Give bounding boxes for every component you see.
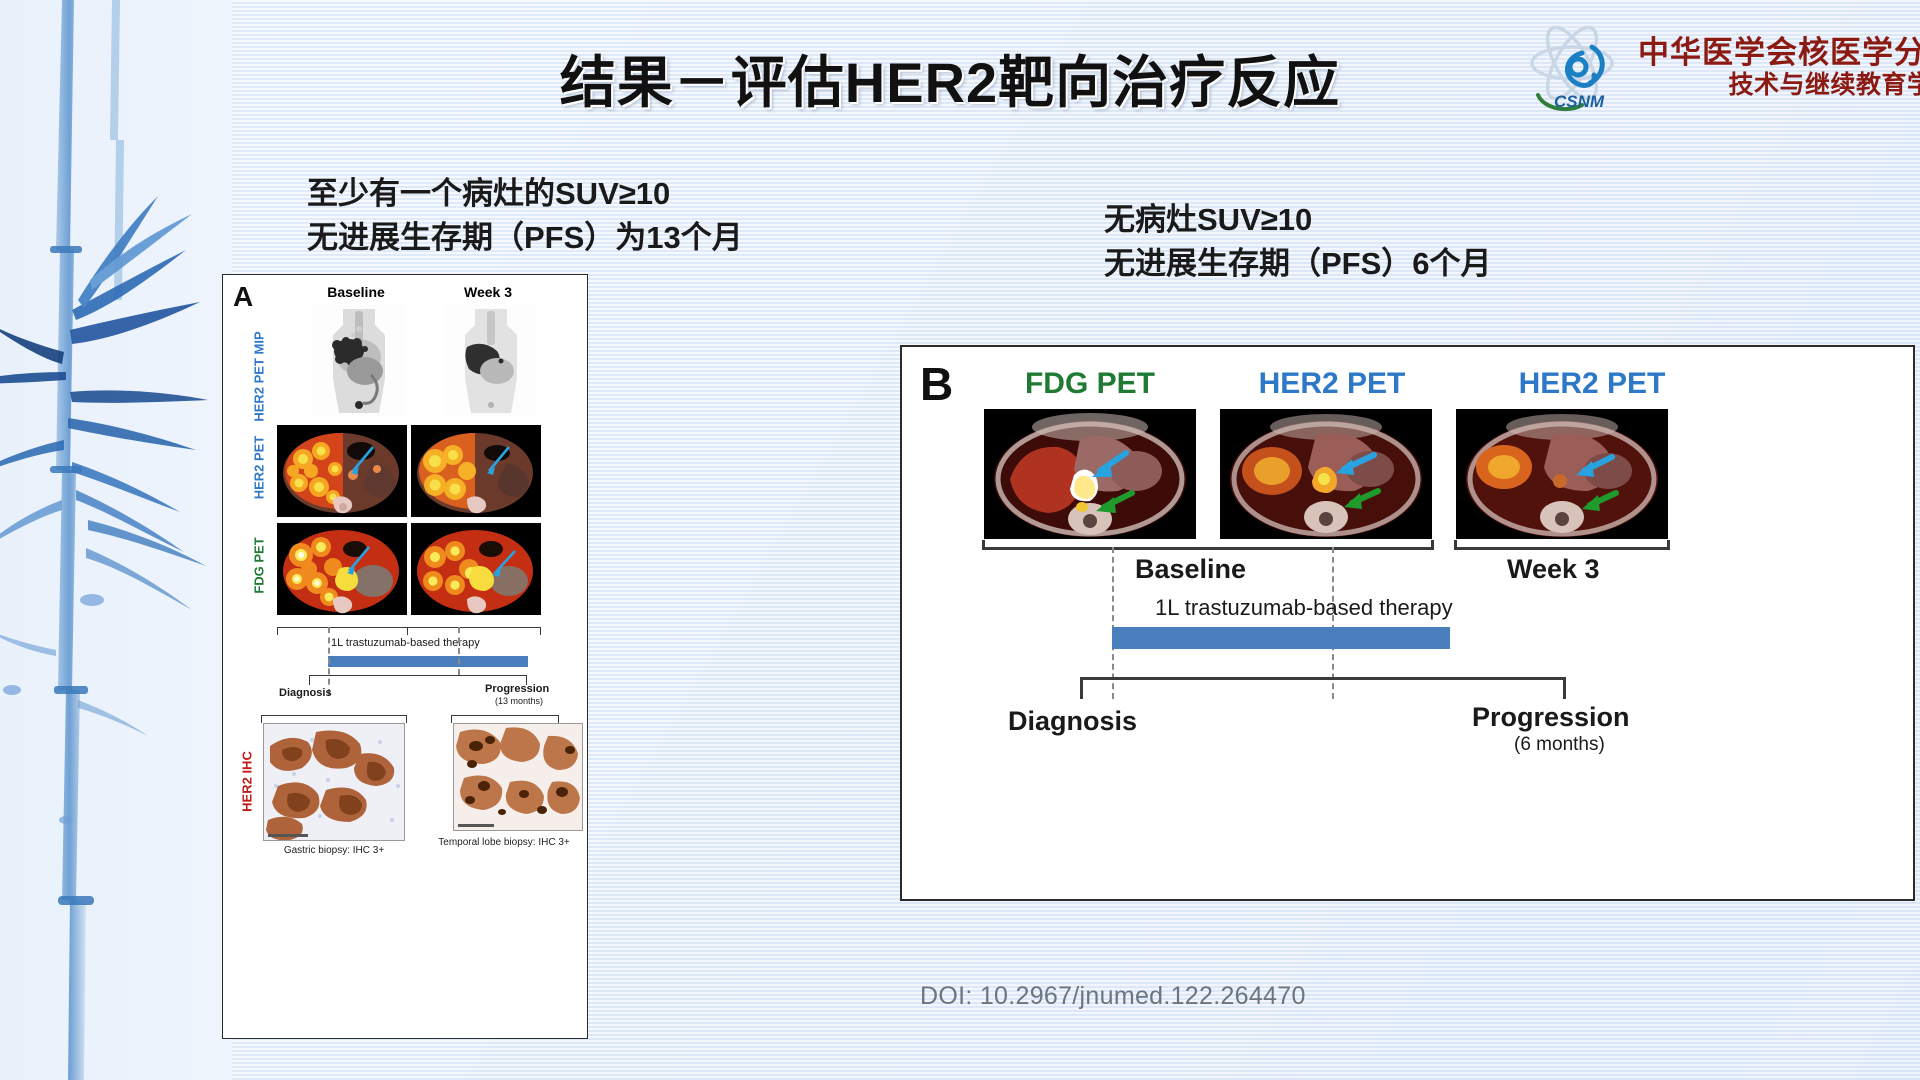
panel-a-progression-sub: (13 months) xyxy=(495,697,543,707)
panel-a-bracket-right-tick xyxy=(540,627,541,635)
panel-a-fdgpet-baseline xyxy=(277,523,407,615)
bamboo-decoration xyxy=(0,0,232,1080)
panel-a-therapy-bar xyxy=(328,656,528,667)
panel-a-ihc-bracket-right xyxy=(451,715,559,716)
panel-b-diagnosis-tick xyxy=(1080,677,1083,699)
panel-a-diagnosis-tick xyxy=(309,675,310,685)
panel-b-letter: B xyxy=(920,361,953,407)
logo-line-secondary: 技术与继续教育学组 xyxy=(1728,71,1920,100)
caption-right: 无病灶SUV≥10 无进展生存期（PFS）6个月 xyxy=(1104,198,1492,286)
panel-b-progression-label: Progression xyxy=(1472,703,1630,733)
page-title: 结果－评估HER2靶向治疗反应 xyxy=(430,38,1470,119)
panel-b-diagnosis-label: Diagnosis xyxy=(1008,707,1137,737)
panel-a-row-label-her2-pet: HER2 PET xyxy=(253,430,266,506)
panel-b-scan-her2-baseline xyxy=(1220,409,1432,539)
panel-a-ihc-bracket-left-tick1 xyxy=(261,715,262,723)
csnm-atom-icon: CSNM xyxy=(1520,23,1628,113)
panel-b-header-fdg-pet: FDG PET xyxy=(980,369,1200,399)
panel-a-diagnosis-dashline xyxy=(328,627,330,695)
panel-b-scan-fdg-baseline xyxy=(984,409,1196,539)
panel-a-ihc-bracket-right-tick2 xyxy=(558,715,559,723)
panel-a-biopsy-caption-left: Gastric biopsy: IHC 3+ xyxy=(245,845,423,856)
panel-b-therapy-label: 1L trastuzumab-based therapy xyxy=(1155,596,1453,620)
panel-b-timepoint-baseline: Baseline xyxy=(1135,555,1246,585)
panel-b-baseline-bracket-left-tick xyxy=(982,540,985,550)
organization-logo: CSNM 中华医学会核医学分会 技术与继续教育学组 xyxy=(1520,22,1910,114)
panel-b-week3-bracket-right-tick xyxy=(1667,540,1670,550)
panel-b-therapy-bar xyxy=(1112,627,1450,649)
panel-a-row-label-her2-ihc: HER2 IHC xyxy=(241,742,254,822)
panel-a-column-week3: Week 3 xyxy=(433,285,543,299)
panel-b-week3-bracket-left-tick xyxy=(1454,540,1457,550)
panel-a-her2pet-week3 xyxy=(411,425,541,517)
caption-right-line1: 无病灶SUV≥10 xyxy=(1104,198,1492,242)
caption-right-line2: 无进展生存期（PFS）6个月 xyxy=(1104,242,1492,286)
figure-panel-a: A Baseline Week 3 HER2 PET MIP xyxy=(222,274,588,1039)
caption-left: 至少有一个病灶的SUV≥10 无进展生存期（PFS）为13个月 xyxy=(307,172,743,260)
slide-canvas: 结果－评估HER2靶向治疗反应 CSNM 中华医学会核医学分会 技术与 xyxy=(0,0,1920,1080)
panel-a-ihc-bracket-left xyxy=(261,715,407,716)
panel-a-row-label-fdg-pet: FDG PET xyxy=(253,533,266,599)
panel-b-scan-her2-week3 xyxy=(1456,409,1668,539)
panel-a-bracket-left-tick xyxy=(277,627,278,635)
panel-a-scan-bracket xyxy=(277,627,541,628)
panel-a-mip-week3 xyxy=(445,305,537,417)
panel-b-header-her2-pet-week3: HER2 PET xyxy=(1472,369,1712,399)
panel-a-diagnosis-label: Diagnosis xyxy=(279,687,332,699)
doi-reference: DOI: 10.2967/jnumed.122.264470 xyxy=(920,982,1306,1011)
panel-a-fdgpet-week3 xyxy=(411,523,541,615)
logo-line-primary: 中华医学会核医学分会 xyxy=(1638,36,1920,71)
panel-b-week3-bracket xyxy=(1454,547,1670,550)
panel-a-ihc-temporal xyxy=(453,723,583,831)
panel-a-ihc-gastric xyxy=(263,723,405,841)
svg-text:CSNM: CSNM xyxy=(1554,92,1605,111)
panel-a-ihc-bracket-right-tick1 xyxy=(451,715,452,723)
panel-b-timepoint-week3: Week 3 xyxy=(1507,555,1600,585)
panel-b-header-her2-pet-baseline: HER2 PET xyxy=(1222,369,1442,399)
panel-a-row-label-her2-pet-mip: HER2 PET MIP xyxy=(253,327,266,427)
panel-a-her2pet-baseline xyxy=(277,425,407,517)
figure-panel-b: B FDG PET HER2 PET HER2 PET xyxy=(900,345,1915,901)
panel-a-bracket-mid-tick xyxy=(407,627,408,635)
panel-a-ihc-bracket-left-tick2 xyxy=(406,715,407,723)
panel-a-outcome-line xyxy=(309,675,527,676)
panel-a-biopsy-caption-right: Temporal lobe biopsy: IHC 3+ xyxy=(421,837,587,848)
panel-b-baseline-bracket-right-tick xyxy=(1431,540,1434,550)
panel-a-column-baseline: Baseline xyxy=(301,285,411,299)
panel-b-progression-sub: (6 months) xyxy=(1514,735,1605,756)
panel-b-progression-tick xyxy=(1563,677,1566,699)
panel-b-outcome-line xyxy=(1080,677,1566,680)
panel-a-progression-label: Progression xyxy=(485,683,549,695)
panel-b-baseline-bracket xyxy=(982,547,1434,550)
caption-left-line1: 至少有一个病灶的SUV≥10 xyxy=(307,172,743,216)
panel-a-mip-baseline xyxy=(313,305,405,417)
panel-a-letter: A xyxy=(233,283,253,311)
caption-left-line2: 无进展生存期（PFS）为13个月 xyxy=(307,216,743,260)
panel-a-week3-dashline xyxy=(458,627,460,675)
